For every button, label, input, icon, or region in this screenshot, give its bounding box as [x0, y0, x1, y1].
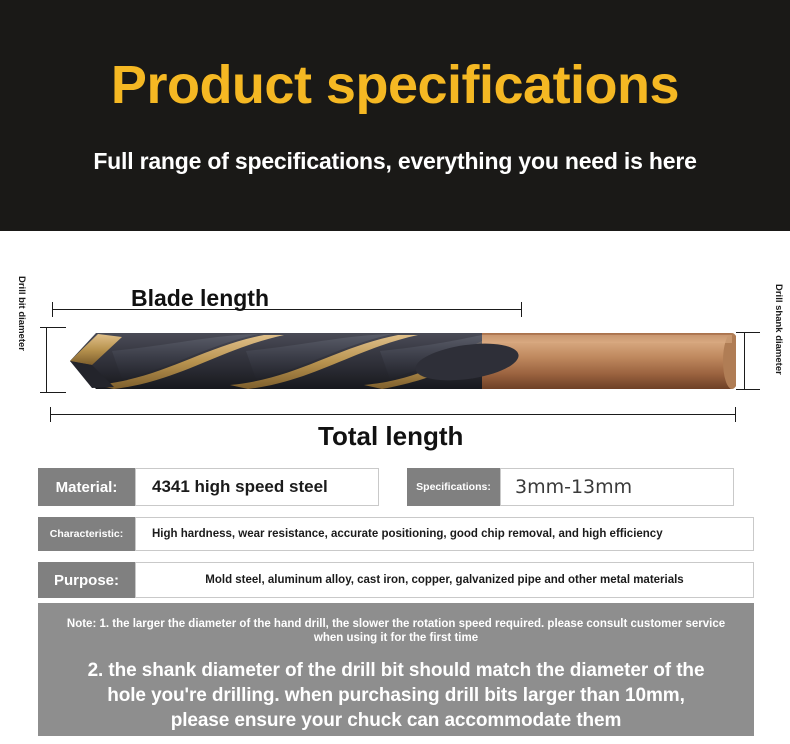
note-box: Note: 1. the larger the diameter of the …: [38, 603, 754, 736]
drill-bit-illustration: [52, 331, 736, 391]
drill-shank-diameter-tick-top: [736, 332, 760, 333]
blade-length-label: Blade length: [131, 285, 269, 312]
drill-shank-diameter-label: Drill shank diameter: [773, 284, 783, 344]
material-label: Material:: [38, 468, 135, 506]
total-length-dimension-line: [50, 414, 736, 415]
note-line-2: 2. the shank diameter of the drill bit s…: [56, 658, 736, 733]
table-row-purpose: Purpose: Mold steel, aluminum alloy, cas…: [38, 562, 754, 598]
page-subtitle: Full range of specifications, everything…: [93, 150, 696, 173]
header-banner: Product specifications Full range of spe…: [0, 0, 790, 231]
drill-bit-diameter-tick-bottom: [40, 392, 66, 393]
blade-length-tick-left: [52, 302, 53, 317]
note-line-1: Note: 1. the larger the diameter of the …: [56, 617, 736, 645]
table-row-material: Material: 4341 high speed steel Specific…: [38, 468, 754, 506]
total-length-tick-right: [735, 407, 736, 422]
drill-shank-diameter-tick-bottom: [736, 389, 760, 390]
total-length-label: Total length: [318, 421, 463, 452]
specifications-value: 3mm-13mm: [500, 468, 734, 506]
specification-table: Material: 4341 high speed steel Specific…: [38, 468, 754, 609]
purpose-value: Mold steel, aluminum alloy, cast iron, c…: [135, 562, 754, 598]
material-value: 4341 high speed steel: [135, 468, 379, 506]
total-length-tick-left: [50, 407, 51, 422]
drill-bit-diagram: Drill bit diameter Drill shank diameter …: [0, 231, 790, 463]
drill-bit-diameter-tick-top: [40, 327, 66, 328]
blade-length-dimension-line: [52, 309, 522, 310]
page-title: Product specifications: [111, 58, 679, 112]
row-spacer: [379, 468, 407, 506]
specifications-label: Specifications:: [407, 468, 500, 506]
product-specification-page: Product specifications Full range of spe…: [0, 0, 790, 744]
characteristic-label: Characteristic:: [38, 517, 135, 551]
purpose-label: Purpose:: [38, 562, 135, 598]
drill-shank-diameter-dimension-line: [744, 332, 745, 390]
blade-length-tick-right: [521, 302, 522, 317]
table-row-characteristic: Characteristic: High hardness, wear resi…: [38, 517, 754, 551]
drill-bit-diameter-dimension-line: [46, 327, 47, 393]
drill-bit-diameter-label: Drill bit diameter: [16, 276, 26, 336]
characteristic-value: High hardness, wear resistance, accurate…: [135, 517, 754, 551]
